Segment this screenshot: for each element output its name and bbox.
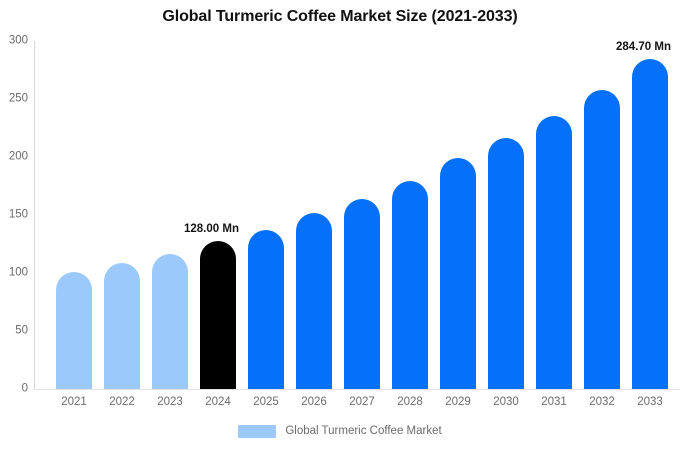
bar-data-label: 284.70 Mn	[616, 42, 671, 54]
x-axis-tick: 2028	[386, 393, 434, 411]
legend-label: Global Turmeric Coffee Market	[285, 426, 441, 438]
x-axis-tick: 2030	[482, 393, 530, 411]
bar-slot	[242, 41, 290, 389]
x-axis-tick: 2032	[578, 393, 626, 411]
x-axis-tick: 2022	[98, 393, 146, 411]
bar-slot	[98, 41, 146, 389]
x-axis-tick: 2026	[290, 393, 338, 411]
y-axis-tick: 200	[0, 151, 28, 163]
y-axis-tick: 0	[0, 383, 28, 395]
bar[interactable]	[56, 272, 92, 389]
bar-data-label: 128.00 Mn	[184, 224, 239, 236]
x-axis-tick: 2033	[626, 393, 674, 411]
bar[interactable]	[584, 90, 620, 389]
x-axis-tick: 2029	[434, 393, 482, 411]
chart-legend: Global Turmeric Coffee Market	[0, 425, 680, 438]
bar-slot	[338, 41, 386, 389]
y-axis-tick: 50	[0, 325, 28, 337]
x-axis-tick-labels: 2021202220232024202520262027202820292030…	[34, 393, 680, 413]
x-axis-tick: 2021	[50, 393, 98, 411]
bar[interactable]	[248, 230, 284, 389]
x-axis-tick: 2024	[194, 393, 242, 411]
x-axis-tick: 2027	[338, 393, 386, 411]
x-axis-tick: 2025	[242, 393, 290, 411]
legend-swatch	[238, 425, 276, 438]
bar-slot	[194, 41, 242, 389]
bar[interactable]	[440, 158, 476, 389]
bar[interactable]	[392, 181, 428, 389]
legend-item[interactable]: Global Turmeric Coffee Market	[238, 425, 441, 438]
bar-slot	[530, 41, 578, 389]
x-axis-line	[34, 389, 680, 390]
bar[interactable]	[152, 254, 188, 389]
bar[interactable]	[536, 116, 572, 389]
bar-slot	[626, 41, 674, 389]
y-axis-tick: 100	[0, 267, 28, 279]
bar-slot	[578, 41, 626, 389]
x-axis-tick: 2023	[146, 393, 194, 411]
x-axis-tick: 2031	[530, 393, 578, 411]
bar[interactable]	[296, 213, 332, 389]
bar[interactable]	[344, 199, 380, 389]
bar-chart: Global Turmeric Coffee Market Size (2021…	[0, 0, 680, 450]
bar-slot	[290, 41, 338, 389]
bar-slot	[50, 41, 98, 389]
bar[interactable]	[488, 138, 524, 389]
bar-slot	[482, 41, 530, 389]
bar[interactable]	[632, 59, 668, 389]
bar-slot	[386, 41, 434, 389]
bar[interactable]	[200, 241, 236, 389]
y-axis-tick: 300	[0, 35, 28, 47]
bars-layer	[34, 41, 680, 389]
y-axis-tick: 150	[0, 209, 28, 221]
bar-slot	[146, 41, 194, 389]
bar-slot	[434, 41, 482, 389]
bar[interactable]	[104, 263, 140, 389]
y-axis-tick: 250	[0, 93, 28, 105]
chart-title: Global Turmeric Coffee Market Size (2021…	[0, 8, 680, 26]
